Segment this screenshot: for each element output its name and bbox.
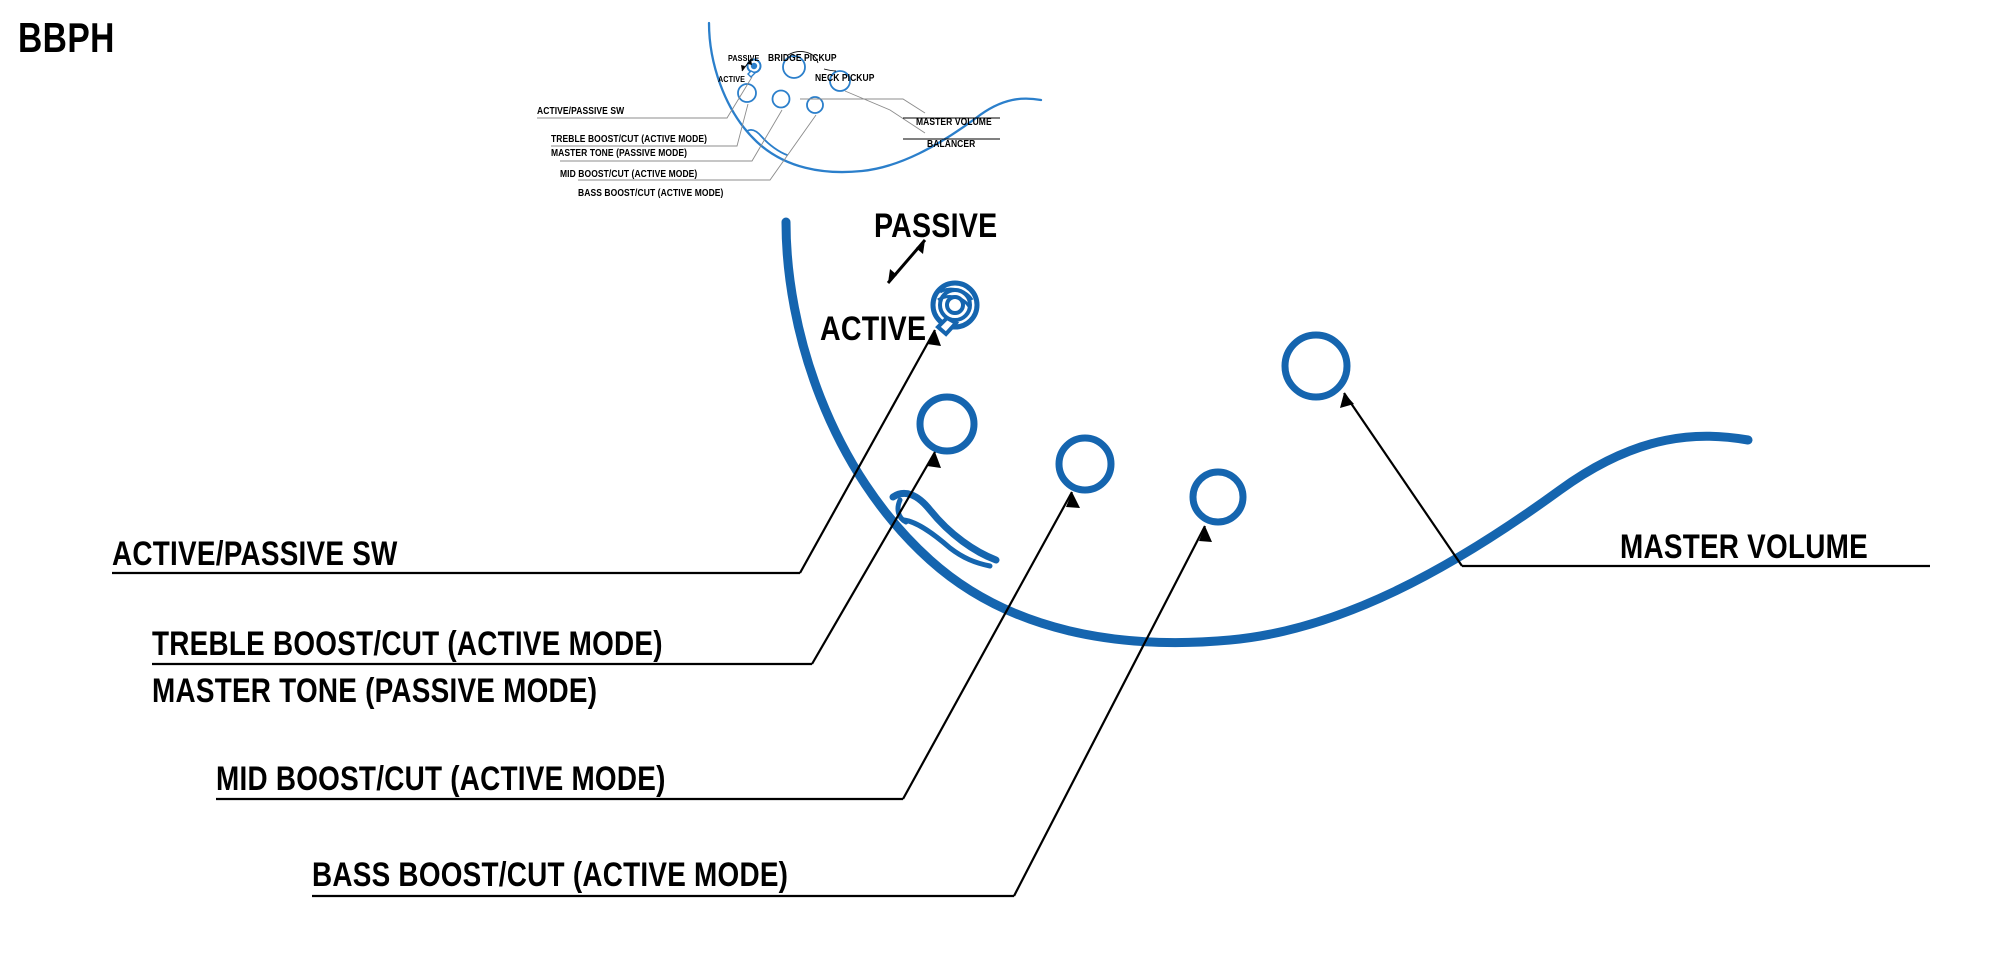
inset-label-mid-boost-cut: MID BOOST/CUT (ACTIVE MODE) <box>560 169 697 180</box>
label-bass-boost-cut: BASS BOOST/CUT (ACTIVE MODE) <box>312 856 788 895</box>
inset-label-treble-boost-cut: TREBLE BOOST/CUT (ACTIVE MODE) <box>551 134 707 145</box>
label-passive: PASSIVE <box>874 207 997 246</box>
inset-label-bass-boost-cut: BASS BOOST/CUT (ACTIVE MODE) <box>578 188 723 199</box>
inset-label-neck-pickup: NECK PICKUP <box>815 73 875 84</box>
inset-label-passive: PASSIVE <box>728 53 759 63</box>
inset-label-balancer: BALANCER <box>927 139 975 150</box>
inset-label-master-tone: MASTER TONE (PASSIVE MODE) <box>551 148 687 159</box>
inset-label-master-volume: MASTER VOLUME <box>916 117 992 128</box>
label-treble-boost-cut: TREBLE BOOST/CUT (ACTIVE MODE) <box>152 625 663 664</box>
inset-label-active-passive-sw: ACTIVE/PASSIVE SW <box>537 106 624 117</box>
label-active: ACTIVE <box>820 310 926 349</box>
diagram-canvas: BBPH <box>0 0 2000 960</box>
inset-label-bridge-pickup: BRIDGE PICKUP <box>768 53 837 64</box>
inset-label-active: ACTIVE <box>718 74 745 84</box>
inset-leader-lines <box>537 77 925 180</box>
inset-diagram-graphics <box>0 0 2000 960</box>
inset-knob-mid[interactable] <box>773 91 790 108</box>
label-master-volume: MASTER VOLUME <box>1620 528 1868 567</box>
label-mid-boost-cut: MID BOOST/CUT (ACTIVE MODE) <box>216 760 666 799</box>
label-active-passive-sw: ACTIVE/PASSIVE SW <box>112 535 398 574</box>
inset-knob-treble[interactable] <box>738 84 756 102</box>
label-master-tone: MASTER TONE (PASSIVE MODE) <box>152 672 597 711</box>
